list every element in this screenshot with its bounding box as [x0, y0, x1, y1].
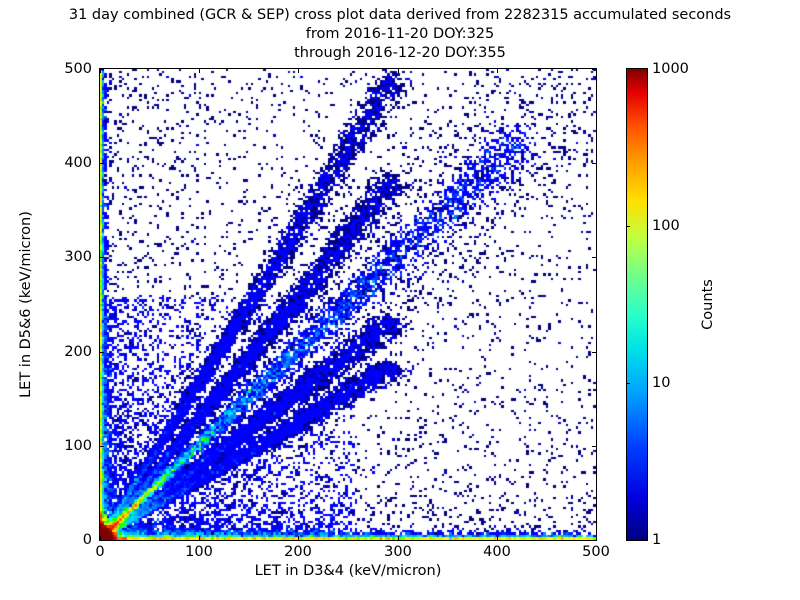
colorbar-label: Counts	[700, 68, 720, 541]
x-tick-mark	[596, 536, 597, 540]
colorbar-tick-mark	[626, 383, 630, 384]
y-tick-label: 500	[37, 61, 92, 77]
x-tick-label: 100	[185, 544, 213, 560]
x-tick-mark	[497, 536, 498, 540]
x-tick-label: 0	[95, 544, 104, 560]
plot-area	[99, 68, 597, 541]
x-tick-mark-top	[596, 69, 597, 73]
colorbar-tick-mark	[626, 226, 630, 227]
y-tick-mark-right	[592, 69, 596, 70]
x-axis-label: LET in D3&4 (keV/micron)	[99, 563, 597, 579]
y-tick-mark-right	[592, 257, 596, 258]
x-tick-label: 200	[284, 544, 312, 560]
y-tick-mark-right	[592, 446, 596, 447]
y-tick-mark	[100, 540, 104, 541]
y-tick-mark-right	[592, 540, 596, 541]
x-tick-mark	[398, 536, 399, 540]
y-tick-mark-right	[592, 163, 596, 164]
colorbar-tick-label: 1	[652, 532, 661, 548]
title-line-1: 31 day combined (GCR & SEP) cross plot d…	[0, 6, 800, 25]
y-tick-mark	[100, 352, 104, 353]
colorbar-tick-label: 1000	[652, 61, 689, 77]
colorbar-tick-label: 100	[652, 218, 680, 234]
x-tick-mark-top	[497, 69, 498, 73]
y-axis-label: LET in D5&6 (keV/micron)	[18, 68, 38, 541]
x-tick-label: 300	[384, 544, 412, 560]
x-tick-mark-top	[398, 69, 399, 73]
colorbar-tick-label: 10	[652, 375, 670, 391]
cross-plot-figure: 31 day combined (GCR & SEP) cross plot d…	[0, 0, 800, 600]
density-heatmap	[100, 69, 596, 540]
x-tick-mark-top	[199, 69, 200, 73]
x-tick-label: 500	[582, 544, 610, 560]
colorbar	[626, 68, 648, 541]
y-tick-mark	[100, 69, 104, 70]
y-tick-label: 400	[37, 155, 92, 171]
y-tick-label: 200	[37, 344, 92, 360]
title-line-2: from 2016-11-20 DOY:325	[0, 25, 800, 44]
y-tick-label: 100	[37, 438, 92, 454]
x-tick-label: 400	[483, 544, 511, 560]
y-tick-label: 300	[37, 249, 92, 265]
x-tick-mark-top	[298, 69, 299, 73]
y-tick-label: 0	[37, 532, 92, 548]
y-tick-mark	[100, 257, 104, 258]
x-tick-mark	[199, 536, 200, 540]
y-tick-mark	[100, 446, 104, 447]
figure-title: 31 day combined (GCR & SEP) cross plot d…	[0, 6, 800, 63]
y-tick-mark	[100, 163, 104, 164]
x-tick-mark	[298, 536, 299, 540]
y-tick-mark-right	[592, 352, 596, 353]
